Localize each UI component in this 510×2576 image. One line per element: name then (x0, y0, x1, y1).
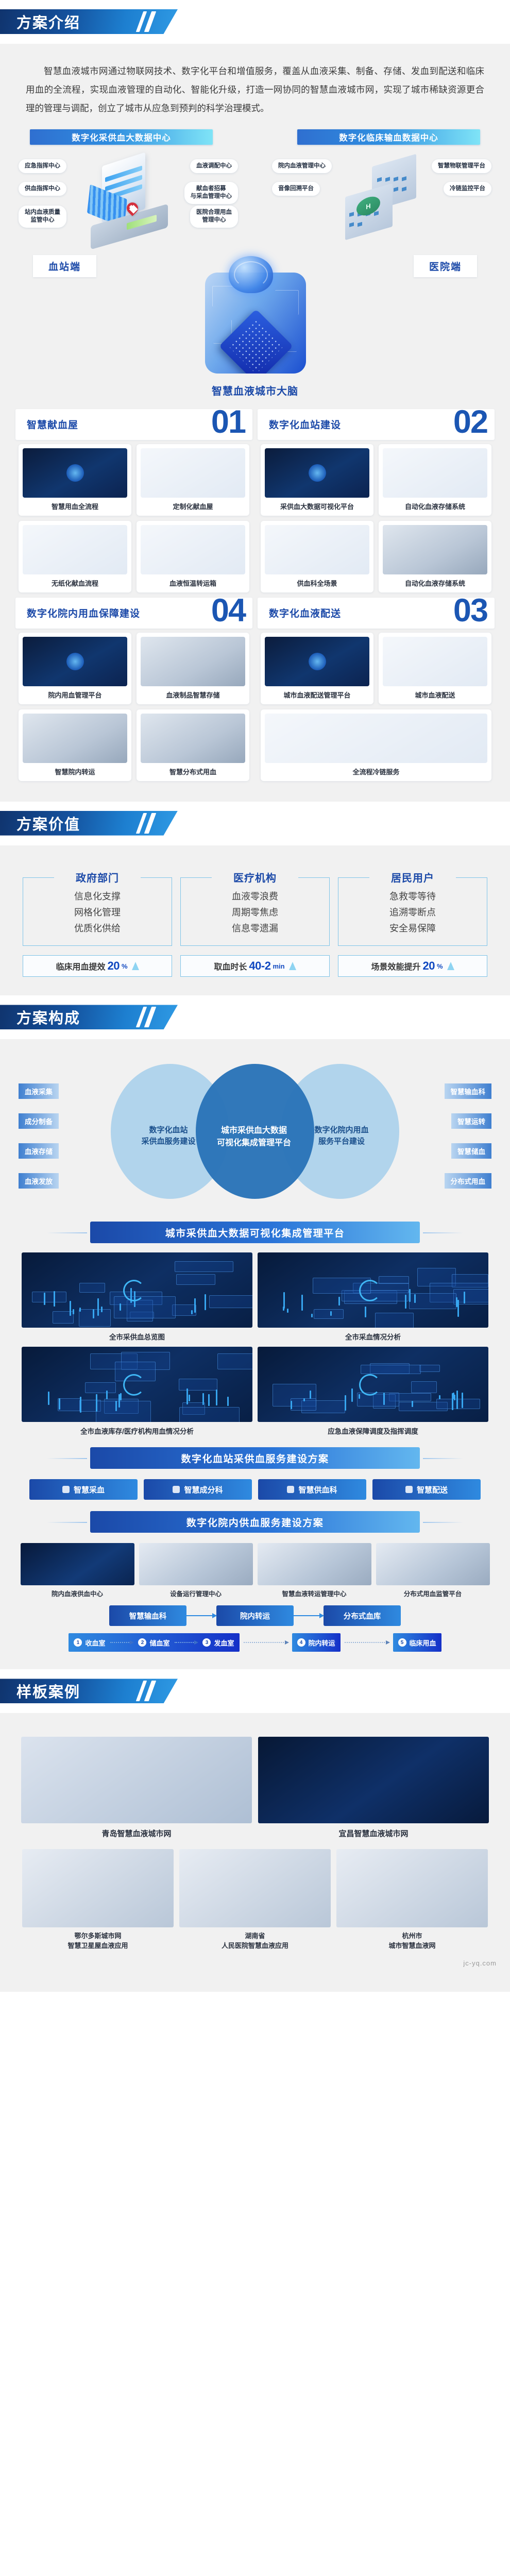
quadrant-04[interactable]: 数字化院内用血保障建设04院内用血管理平台血液制品智慧存储智慧院内转运智慧分布式… (15, 598, 252, 781)
step-gap-arrow-icon (244, 1642, 288, 1643)
chip-icon (287, 1486, 294, 1493)
tile-caption: 智慧用血全流程 (23, 501, 127, 511)
case-row-top: 青岛智慧血液城市网宜昌智慧血液城市网 (0, 1726, 510, 1839)
value-item: 追溯零断点 (338, 905, 487, 921)
tile-thumbnail (141, 525, 245, 574)
kpi-unit: min (273, 962, 284, 970)
quadrant-title: 数字化院内用血保障建设 (27, 606, 140, 620)
case-card[interactable]: 青岛智慧血液城市网 (21, 1737, 252, 1839)
tile-row: 院内用血管理平台血液制品智慧存储智慧院内转运智慧分布式用血 (15, 633, 252, 781)
tile-caption: 血液制品智慧存储 (141, 690, 245, 700)
steps-segment-1: 1 收血室 2 储血室 3 发血室 (69, 1633, 239, 1652)
tile-caption: 智慧分布式用血 (141, 767, 245, 776)
value-item: 网格化管理 (23, 905, 172, 921)
quadrant-header: 智慧献血屋01 (15, 409, 252, 440)
quadrant-header: 数字化院内用血保障建设04 (15, 598, 252, 629)
kpi-row: 临床用血提效20%取血时长40-2min场景效能提升20% (0, 946, 510, 980)
page-root: 方案介绍 智慧血液城市网通过物联网技术、数字化平台和增值服务，覆盖从血液采集、制… (0, 0, 510, 1992)
kpi-label: 临床用血提效 (56, 960, 105, 972)
platform-screenshot (258, 1347, 488, 1422)
case-card[interactable]: 鄂尔多斯城市网智慧卫星屋血液应用 (22, 1849, 174, 1951)
value-item: 优质化供给 (23, 921, 172, 937)
banner-value-wrap: 方案价值 (0, 802, 510, 845)
kpi-unit: % (122, 962, 128, 970)
case-row-bottom: 鄂尔多斯城市网智慧卫星屋血液应用湖南省人民医院智慧血液应用杭州市城市智慧血液网 (0, 1839, 510, 1951)
hospital-mini-thumbnail (139, 1543, 253, 1585)
value-item: 安全易保障 (338, 921, 487, 937)
feature-tile[interactable]: 智慧分布式用血 (137, 709, 249, 781)
hospital-mini[interactable]: 分布式用血监管平台 (376, 1543, 490, 1598)
case-caption: 青岛智慧血液城市网 (21, 1828, 252, 1839)
station-chip[interactable]: 智慧配送 (372, 1479, 481, 1500)
case-photo (21, 1737, 252, 1823)
value-column-title: 居民用户 (384, 870, 441, 885)
proc-smart-transfusion-dept: 智慧输血科 (109, 1605, 186, 1626)
slash-decor-icon (137, 1679, 158, 1703)
hospital-mini[interactable]: 院内血液供血中心 (21, 1543, 134, 1598)
feature-tile[interactable]: 智慧用血全流程 (19, 444, 131, 516)
tile-row: 智慧用血全流程定制化献血屋无纸化献血流程血液恒温转运箱 (15, 444, 252, 592)
case-caption: 鄂尔多斯城市网智慧卫星屋血液应用 (22, 1931, 174, 1951)
architecture-left-column: 应急指挥中心 供血指挥中心 站内血液质量监管中心 血液调配中心 献血者招募与采血… (18, 152, 239, 250)
pill-quality-supervision-center: 站内血液质量监管中心 (19, 206, 66, 228)
quadrant-02[interactable]: 数字化血站建设02采供血大数据可视化平台自动化血液存储系统供血科全场景自动化血液… (258, 409, 495, 592)
intro-paragraph: 智慧血液城市网通过物联网技术、数字化平台和增值服务，覆盖从血液采集、制备、存储、… (0, 57, 510, 126)
case-caption: 宜昌智慧血液城市网 (258, 1828, 489, 1839)
tile-thumbnail (383, 525, 487, 574)
pill-av-traceback-platform: 音像回溯平台 (272, 182, 320, 196)
proc-distributed-blood-bank: 分布式血库 (324, 1605, 401, 1626)
section-banner-intro: 方案介绍 (0, 9, 178, 34)
proc-in-hospital-transport: 院内转运 (216, 1605, 294, 1626)
slash-decor-icon (137, 811, 158, 836)
architecture-headers: 数字化采供血大数据中心 数字化临床输血数据中心 (0, 129, 510, 145)
architecture-body: 应急指挥中心 供血指挥中心 站内血液质量监管中心 血液调配中心 献血者招募与采血… (0, 145, 510, 250)
step-number-4: 4 (297, 1638, 305, 1647)
up-arrow-icon (132, 962, 139, 970)
intro-block: 智慧血液城市网通过物联网技术、数字化平台和增值服务，覆盖从血液采集、制备、存储、… (0, 44, 510, 802)
quadrant-number: 03 (453, 595, 487, 627)
station-chip[interactable]: 智慧采血 (29, 1479, 138, 1500)
slash-decor-icon (137, 9, 158, 34)
tile-caption: 采供血大数据可视化平台 (265, 501, 369, 511)
feature-tile[interactable]: 全流程冷链服务 (261, 709, 491, 781)
value-box: 居民用户急救零等待追溯零断点安全易保障 (338, 877, 487, 946)
platform-screenshot (258, 1252, 488, 1328)
tile-caption: 智慧院内转运 (23, 767, 127, 776)
feature-tile[interactable]: 无纸化献血流程 (19, 521, 131, 592)
section-banner-value: 方案价值 (0, 811, 178, 836)
step-number-2: 2 (138, 1638, 146, 1647)
feature-tile[interactable]: 血液恒温转运箱 (137, 521, 249, 592)
up-arrow-icon (289, 962, 296, 970)
tile-thumbnail (265, 714, 487, 763)
feature-quadrants: 智慧献血屋01智慧用血全流程定制化献血屋无纸化献血流程血液恒温转运箱数字化血站建… (0, 398, 510, 786)
step-number-1: 1 (74, 1638, 82, 1647)
quadrant-header: 数字化血液配送03 (258, 598, 495, 629)
banner-intro-wrap: 方案介绍 (0, 0, 510, 44)
hospital-mini-thumbnail (376, 1543, 490, 1585)
station-chip-label: 智慧成分科 (184, 1484, 223, 1495)
station-chip-row: 智慧采血智慧成分科智慧供血科智慧配送 (0, 1476, 510, 1500)
step-label-2: 储血室 (149, 1638, 169, 1648)
kpi-number: 20 (422, 959, 434, 973)
process-row: 智慧输血科 院内转运 分布式血库 (0, 1598, 510, 1626)
station-chip[interactable]: 智慧成分科 (144, 1479, 252, 1500)
feature-tile[interactable]: 城市血液配送管理平台 (261, 633, 373, 704)
watermark: jc-yq.com (0, 1951, 510, 1976)
platform-shot-caption: 全市血液库存/医疗机构用血情况分析 (22, 1426, 252, 1436)
tile-thumbnail (23, 525, 127, 574)
value-item: 信息化支撑 (23, 889, 172, 905)
subhead-platform: 城市采供血大数据可视化集成管理平台 (90, 1222, 420, 1243)
tile-row: 城市血液配送管理平台城市血液配送全流程冷链服务 (258, 633, 495, 781)
tag-smart-blood-storage: 智慧储血 (451, 1143, 491, 1159)
platform-shot[interactable]: 全市采血情况分析 (258, 1252, 488, 1342)
tile-thumbnail (141, 448, 245, 498)
quadrant-grid: 智慧献血屋01智慧用血全流程定制化献血屋无纸化献血流程血液恒温转运箱数字化血站建… (15, 409, 495, 781)
section-title-intro: 方案介绍 (16, 11, 80, 32)
quadrant-header: 数字化血站建设02 (258, 409, 495, 440)
section-title-structure: 方案构成 (16, 1006, 80, 1028)
quadrant-title: 智慧献血屋 (27, 417, 78, 431)
architecture-right-column: H 院内血液管理中心 音像回溯平台 智慧物联管理平台 冷链监控平台 (271, 152, 492, 250)
tile-caption: 定制化献血屋 (141, 501, 245, 511)
label-hospital-terminal: 医院端 (414, 255, 477, 277)
feature-tile[interactable]: 城市血液配送 (379, 633, 491, 704)
quadrant-01[interactable]: 智慧献血屋01智慧用血全流程定制化献血屋无纸化献血流程血液恒温转运箱 (15, 409, 252, 592)
tag-smart-transport: 智慧运转 (451, 1113, 491, 1129)
hospital-mini-thumbnail (21, 1543, 134, 1585)
up-arrow-icon (447, 962, 454, 970)
tile-caption: 城市血液配送管理平台 (265, 690, 369, 700)
header-blood-bigdata-center: 数字化采供血大数据中心 (30, 129, 213, 145)
case-caption: 杭州市城市智慧血液网 (336, 1931, 488, 1951)
pill-supply-command-center: 供血指挥中心 (19, 182, 66, 196)
station-chip-label: 智慧供血科 (298, 1484, 337, 1495)
value-column: 医疗机构血液零浪费周期零焦虑信息零遗漏 (180, 868, 330, 946)
platform-shot[interactable]: 应急血液保障调度及指挥调度 (258, 1347, 488, 1436)
kpi-unit: % (437, 962, 443, 970)
pill-blood-allocation-center: 血液调配中心 (190, 159, 238, 174)
hospital-mini-row: 院内血液供血中心设备运行管理中心智慧血液转运管理中心分布式用血监管平台 (0, 1540, 510, 1598)
station-chip-label: 智慧采血 (74, 1484, 105, 1495)
tile-thumbnail (383, 448, 487, 498)
tile-caption: 城市血液配送 (383, 690, 487, 700)
quadrant-03[interactable]: 数字化血液配送03城市血液配送管理平台城市血液配送全流程冷链服务 (258, 598, 495, 781)
value-item: 周期零焦虑 (181, 905, 329, 921)
feature-tile[interactable]: 血液制品智慧存储 (137, 633, 249, 704)
hospital-mini[interactable]: 设备运行管理中心 (139, 1543, 253, 1598)
arrow-icon (294, 1615, 324, 1616)
platform-shot[interactable]: 全市血液库存/医疗机构用血情况分析 (22, 1347, 252, 1436)
banner-structure-wrap: 方案构成 (0, 995, 510, 1039)
step-flow: 1 收血室 2 储血室 3 发血室 4 院内转运 5 临床用血 (0, 1626, 510, 1654)
value-column: 居民用户急救零等待追溯零断点安全易保障 (338, 868, 487, 946)
feature-tile[interactable]: 定制化献血屋 (137, 444, 249, 516)
tile-thumbnail (23, 637, 127, 686)
pill-in-hospital-blood-mgmt-center: 院内血液管理中心 (272, 159, 332, 174)
tile-thumbnail (23, 448, 127, 498)
banner-cases-wrap: 样板案例 (0, 1669, 510, 1713)
platform-screenshot (22, 1347, 252, 1422)
hospital-isometric-icon: H (333, 154, 431, 246)
pill-iot-management-platform: 智慧物联管理平台 (432, 159, 491, 174)
step-label-5: 临床用血 (410, 1638, 436, 1648)
case-photo (258, 1737, 489, 1823)
steps-segment-2: 4 院内转运 (292, 1633, 341, 1652)
case-card[interactable]: 宜昌智慧血液城市网 (258, 1737, 489, 1839)
hospital-mini[interactable]: 智慧血液转运管理中心 (258, 1543, 371, 1598)
step-number-3: 3 (202, 1638, 211, 1647)
tile-caption: 无纸化献血流程 (23, 578, 127, 588)
platform-screenshot (22, 1252, 252, 1328)
tag-distributed-blood-use: 分布式用血 (445, 1173, 492, 1189)
value-item: 急救零等待 (338, 889, 487, 905)
step-number-5: 5 (398, 1638, 406, 1647)
kpi-number: 20 (107, 959, 119, 973)
kpi-card: 取血时长40-2min (180, 955, 330, 977)
section-banner-cases: 样板案例 (0, 1679, 178, 1703)
slash-decor-icon (137, 1005, 158, 1029)
blood-station-isometric-icon (79, 154, 177, 246)
quadrant-title: 数字化血液配送 (269, 606, 341, 620)
quadrant-number: 01 (211, 406, 245, 438)
value-box: 医疗机构血液零浪费周期零焦虑信息零遗漏 (180, 877, 330, 946)
tile-caption: 自动化血液存储系统 (383, 578, 487, 588)
platform-shot-caption: 全市采供血总览图 (22, 1331, 252, 1342)
architecture-diagram: 数字化采供血大数据中心 数字化临床输血数据中心 应急指挥中心 供血指挥中心 (0, 126, 510, 398)
venn-diagram: 血液采集 成分制备 血液存储 血液发放 智慧输血科 智慧运转 智慧储血 分布式用… (0, 1056, 510, 1210)
kpi-number: 40-2 (249, 959, 270, 973)
feature-tile[interactable]: 供血科全场景 (261, 521, 373, 592)
section-title-cases: 样板案例 (16, 1680, 80, 1702)
steps-segment-3: 5 临床用血 (393, 1633, 441, 1652)
hospital-mini-caption: 分布式用血监管平台 (376, 1588, 490, 1598)
subhead-hospital-scheme: 数字化院内供血服务建设方案 (90, 1511, 420, 1533)
tag-smart-transfusion-dept: 智慧输血科 (445, 1083, 492, 1099)
platform-shot-caption: 应急血液保障调度及指挥调度 (258, 1426, 488, 1436)
tile-thumbnail (23, 714, 127, 763)
quadrant-number: 04 (211, 595, 245, 627)
header-clinical-transfusion-center: 数字化临床输血数据中心 (297, 129, 480, 145)
tag-blood-collection: 血液采集 (19, 1083, 59, 1099)
step-label-3: 发血室 (214, 1638, 234, 1648)
kpi-label: 取血时长 (214, 960, 247, 972)
step-arrow-icon (175, 1642, 197, 1643)
feature-tile[interactable]: 自动化血液存储系统 (379, 444, 491, 516)
step-label-1: 收血室 (85, 1638, 105, 1648)
hospital-mini-thumbnail (258, 1543, 371, 1585)
city-brain-title: 智慧血液城市大脑 (0, 383, 510, 398)
cases-block: 青岛智慧血液城市网宜昌智慧血液城市网 鄂尔多斯城市网智慧卫星屋血液应用湖南省人民… (0, 1713, 510, 1992)
pill-donor-recruitment-center: 献血者招募与采血管理中心 (184, 182, 239, 204)
kpi-label: 场景效能提升 (371, 960, 420, 972)
pill-hospital-rational-use-center: 医院合理用血管理中心 (190, 206, 238, 228)
arrow-icon (186, 1615, 216, 1616)
city-brain-chip-icon (196, 253, 314, 382)
step-label-4: 院内转运 (309, 1638, 335, 1648)
pill-cold-chain-monitor-platform: 冷链监控平台 (444, 182, 491, 196)
section-banner-structure: 方案构成 (0, 1005, 178, 1029)
hospital-mini-caption: 设备运行管理中心 (139, 1588, 253, 1598)
chip-icon (173, 1486, 180, 1493)
quadrant-title: 数字化血站建设 (269, 417, 341, 431)
kpi-card: 场景效能提升20% (338, 955, 487, 977)
venn-center-label: 城市采供血大数据可视化集成管理平台 (202, 1125, 305, 1148)
station-chip[interactable]: 智慧供血科 (258, 1479, 366, 1500)
tag-component-preparation: 成分制备 (19, 1113, 59, 1129)
tile-row: 采供血大数据可视化平台自动化血液存储系统供血科全场景自动化血液存储系统 (258, 444, 495, 592)
quadrant-number: 02 (453, 406, 487, 438)
tag-blood-storage: 血液存储 (19, 1143, 59, 1159)
tile-thumbnail (265, 637, 369, 686)
tile-caption: 院内用血管理平台 (23, 690, 127, 700)
chip-icon (405, 1486, 413, 1493)
case-photo (179, 1849, 331, 1927)
value-column-title: 政府部门 (69, 870, 126, 885)
kpi-card: 临床用血提效20% (23, 955, 172, 977)
venn-stage: 数字化血站采供血服务建设 城市采供血大数据可视化集成管理平台 数字化院内用血服务… (111, 1064, 399, 1200)
tile-thumbnail (265, 448, 369, 498)
feature-tile[interactable]: 院内用血管理平台 (19, 633, 131, 704)
structure-block: 血液采集 成分制备 血液存储 血液发放 智慧输血科 智慧运转 智慧储血 分布式用… (0, 1039, 510, 1669)
value-columns: 政府部门信息化支撑网格化管理优质化供给医疗机构血液零浪费周期零焦虑信息零遗漏居民… (0, 859, 510, 946)
tile-caption: 血液恒温转运箱 (141, 578, 245, 588)
case-card[interactable]: 杭州市城市智慧血液网 (336, 1849, 488, 1951)
step-gap-arrow-icon (345, 1642, 389, 1643)
feature-tile[interactable]: 采供血大数据可视化平台 (261, 444, 373, 516)
tile-caption: 供血科全场景 (265, 578, 369, 588)
case-card[interactable]: 湖南省人民医院智慧血液应用 (179, 1849, 331, 1951)
feature-tile[interactable]: 智慧院内转运 (19, 709, 131, 781)
step-arrow-icon (110, 1642, 133, 1643)
chip-icon (62, 1486, 70, 1493)
hospital-mini-caption: 院内血液供血中心 (21, 1588, 134, 1598)
feature-tile[interactable]: 自动化血液存储系统 (379, 521, 491, 592)
value-column: 政府部门信息化支撑网格化管理优质化供给 (23, 868, 172, 946)
terminal-row: 血站端 医院端 (0, 250, 510, 382)
case-caption: 湖南省人民医院智慧血液应用 (179, 1931, 331, 1951)
tile-thumbnail (265, 525, 369, 574)
value-block: 政府部门信息化支撑网格化管理优质化供给医疗机构血液零浪费周期零焦虑信息零遗漏居民… (0, 845, 510, 996)
platform-shot[interactable]: 全市采供血总览图 (22, 1252, 252, 1342)
subhead-station-scheme: 数字化血站采供血服务建设方案 (90, 1447, 420, 1469)
platform-screenshot-grid: 全市采供血总览图全市采血情况分析全市血液库存/医疗机构用血情况分析应急血液保障调… (0, 1250, 510, 1436)
tile-caption: 自动化血液存储系统 (383, 501, 487, 511)
platform-shot-caption: 全市采血情况分析 (258, 1331, 488, 1342)
pill-emergency-command-center: 应急指挥中心 (19, 159, 66, 174)
section-title-value: 方案价值 (16, 812, 80, 834)
value-column-title: 医疗机构 (226, 870, 284, 885)
label-blood-station-terminal: 血站端 (33, 255, 96, 277)
value-box: 政府部门信息化支撑网格化管理优质化供给 (23, 877, 172, 946)
case-photo (22, 1849, 174, 1927)
tile-caption: 全流程冷链服务 (265, 767, 487, 776)
station-chip-label: 智慧配送 (417, 1484, 448, 1495)
case-photo (336, 1849, 488, 1927)
value-item: 血液零浪费 (181, 889, 329, 905)
hospital-mini-caption: 智慧血液转运管理中心 (258, 1588, 371, 1598)
tile-thumbnail (141, 714, 245, 763)
tile-thumbnail (383, 637, 487, 686)
value-item: 信息零遗漏 (181, 921, 329, 937)
tile-thumbnail (141, 637, 245, 686)
tag-blood-release: 血液发放 (19, 1173, 59, 1189)
